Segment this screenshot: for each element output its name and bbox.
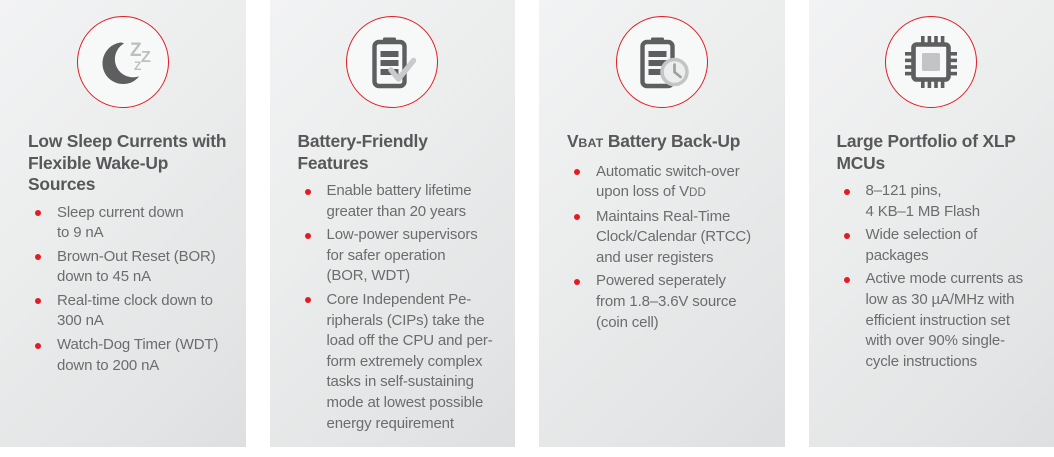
bullet-dot-icon bbox=[844, 233, 850, 239]
card-bullet-list: 8–121 pins,4 KB–1 MB FlashWide selection… bbox=[837, 181, 1041, 372]
text-run: Low Sleep Currents with Flexible Wake-Up… bbox=[28, 131, 226, 194]
bullet-dot-icon bbox=[844, 277, 850, 283]
bullet-dot-icon bbox=[35, 298, 41, 304]
svg-text:Z: Z bbox=[141, 49, 151, 66]
card-body: Large Portfolio of XLP MCUs 8–121 pins,4… bbox=[837, 131, 1041, 375]
card-title: VBAT Battery Back-Up bbox=[567, 131, 771, 155]
feature-cards-board: Z Z Z Low Sleep Currents with Flexible W… bbox=[0, 0, 1054, 457]
subscript-text: DD bbox=[689, 186, 706, 199]
text-run: upon loss of V bbox=[596, 183, 689, 200]
bullet-line: and user registers bbox=[596, 248, 771, 269]
bullet-line: Core Independent Pe- bbox=[327, 290, 502, 311]
bullet-line: Enable battery lifetime bbox=[327, 181, 502, 202]
battery-clock-icon bbox=[631, 32, 693, 92]
bullet-line: form extremely complex bbox=[327, 352, 502, 373]
bullet-line: energy requirement bbox=[327, 414, 502, 435]
bullet-line: from 1.8–3.6V source bbox=[596, 292, 771, 313]
bullet-line: tasks in self-sustaining bbox=[327, 372, 502, 393]
bullet-line: Real-time clock down to bbox=[57, 291, 232, 312]
bullet-line: greater than 20 years bbox=[327, 202, 502, 223]
bullet-item: Sleep current downto 9 nA bbox=[28, 203, 232, 244]
bullet-line: down to 45 nA bbox=[57, 267, 232, 288]
bullet-line: Low-power supervisors bbox=[327, 225, 502, 246]
bullet-line: (coin cell) bbox=[596, 313, 771, 334]
battery-check-icon bbox=[361, 32, 423, 92]
bullet-line: 8–121 pins, bbox=[866, 181, 1041, 202]
bullet-line: down to 200 nA bbox=[57, 356, 232, 377]
bullet-item: Low-power supervisorsfor safer operation… bbox=[298, 225, 502, 287]
feature-card-low-sleep-currents: Z Z Z Low Sleep Currents with Flexible W… bbox=[0, 0, 246, 447]
moon-sleep-icon: Z Z Z bbox=[90, 32, 156, 92]
feature-card-vbat-battery-backup: VBAT Battery Back-Up Automatic switch-ov… bbox=[539, 0, 785, 447]
card-icon-wrap bbox=[809, 16, 1054, 108]
bullet-dot-icon bbox=[574, 214, 580, 220]
bullet-line: for safer operation bbox=[327, 246, 502, 267]
bullet-line: Automatic switch-over bbox=[596, 162, 771, 183]
bullet-line: Maintains Real-Time bbox=[596, 207, 771, 228]
card-title: Low Sleep Currents with Flexible Wake-Up… bbox=[28, 131, 232, 196]
svg-text:Z: Z bbox=[134, 59, 141, 73]
bullet-line: ripherals (CIPs) take the bbox=[327, 311, 502, 332]
bullet-line: Powered seperately bbox=[596, 271, 771, 292]
bullet-dot-icon bbox=[574, 169, 580, 175]
bullet-line: Watch-Dog Timer (WDT) bbox=[57, 335, 232, 356]
bullet-line: upon loss of VDD bbox=[596, 182, 771, 204]
bullet-dot-icon bbox=[844, 189, 850, 195]
icon-ring bbox=[346, 16, 438, 108]
bullet-line: (BOR, WDT) bbox=[327, 266, 502, 287]
bullet-item: Active mode currents aslow as 30 µA/MHz … bbox=[837, 269, 1041, 372]
bullet-line: with over 90% single- bbox=[866, 331, 1041, 352]
card-icon-wrap bbox=[270, 16, 516, 108]
text-run: Battery-Friendly Features bbox=[298, 131, 428, 173]
card-body: VBAT Battery Back-Up Automatic switch-ov… bbox=[567, 131, 771, 336]
icon-ring: Z Z Z bbox=[77, 16, 169, 108]
card-bullet-list: Sleep current downto 9 nABrown-Out Reset… bbox=[28, 203, 232, 377]
subscript-text: BAT bbox=[578, 136, 603, 150]
bullet-item: Brown-Out Reset (BOR)down to 45 nA bbox=[28, 247, 232, 288]
bullet-item: Real-time clock down to300 nA bbox=[28, 291, 232, 332]
card-icon-wrap: Z Z Z bbox=[0, 16, 246, 108]
bullet-item: Wide selection ofpackages bbox=[837, 225, 1041, 266]
card-icon-wrap bbox=[539, 16, 785, 108]
bullet-line: efficient instruction set bbox=[866, 311, 1041, 332]
bullet-line: 4 KB–1 MB Flash bbox=[866, 202, 1041, 223]
bullet-dot-icon bbox=[574, 279, 580, 285]
bullet-line: Brown-Out Reset (BOR) bbox=[57, 247, 232, 268]
card-title: Battery-Friendly Features bbox=[298, 131, 502, 174]
bullet-item: Automatic switch-overupon loss of VDD bbox=[567, 162, 771, 204]
bullet-line: to 9 nA bbox=[57, 223, 232, 244]
bullet-line: Wide selection of bbox=[866, 225, 1041, 246]
text-run: Large Portfolio of XLP MCUs bbox=[837, 131, 1016, 173]
bullet-line: Active mode currents as bbox=[866, 269, 1041, 290]
microchip-icon bbox=[901, 32, 961, 92]
text-run: V bbox=[567, 131, 578, 151]
bullet-line: load off the CPU and per- bbox=[327, 331, 502, 352]
card-bullet-list: Automatic switch-overupon loss of VDDMai… bbox=[567, 162, 771, 334]
bullet-line: cycle instructions bbox=[866, 352, 1041, 373]
bullet-item: Watch-Dog Timer (WDT)down to 200 nA bbox=[28, 335, 232, 376]
bullet-line: packages bbox=[866, 246, 1041, 267]
bullet-dot-icon bbox=[35, 210, 41, 216]
bullet-line: 300 nA bbox=[57, 311, 232, 332]
card-title: Large Portfolio of XLP MCUs bbox=[837, 131, 1041, 174]
bullet-item: Core Independent Pe-ripherals (CIPs) tak… bbox=[298, 290, 502, 434]
bullet-dot-icon bbox=[305, 233, 311, 239]
bullet-dot-icon bbox=[35, 343, 41, 349]
bullet-item: 8–121 pins,4 KB–1 MB Flash bbox=[837, 181, 1041, 222]
card-bullet-list: Enable battery lifetimegreater than 20 y… bbox=[298, 181, 502, 434]
bullet-line: mode at lowest possible bbox=[327, 393, 502, 414]
bullet-dot-icon bbox=[305, 297, 311, 303]
bullet-item: Powered seperatelyfrom 1.8–3.6V source(c… bbox=[567, 271, 771, 333]
bullet-item: Maintains Real-TimeClock/Calendar (RTCC)… bbox=[567, 207, 771, 269]
card-body: Battery-Friendly Features Enable battery… bbox=[298, 131, 502, 437]
bullet-dot-icon bbox=[305, 189, 311, 195]
bullet-dot-icon bbox=[35, 254, 41, 260]
text-run: Battery Back-Up bbox=[603, 131, 740, 151]
icon-ring bbox=[616, 16, 708, 108]
feature-card-large-portfolio-xlp: Large Portfolio of XLP MCUs 8–121 pins,4… bbox=[809, 0, 1054, 447]
bullet-item: Enable battery lifetimegreater than 20 y… bbox=[298, 181, 502, 222]
bullet-line: Sleep current down bbox=[57, 203, 232, 224]
card-body: Low Sleep Currents with Flexible Wake-Up… bbox=[28, 131, 232, 379]
bullet-line: Clock/Calendar (RTCC) bbox=[596, 227, 771, 248]
feature-card-battery-friendly: Battery-Friendly Features Enable battery… bbox=[270, 0, 516, 447]
bullet-line: low as 30 µA/MHz with bbox=[866, 290, 1041, 311]
icon-ring bbox=[885, 16, 977, 108]
